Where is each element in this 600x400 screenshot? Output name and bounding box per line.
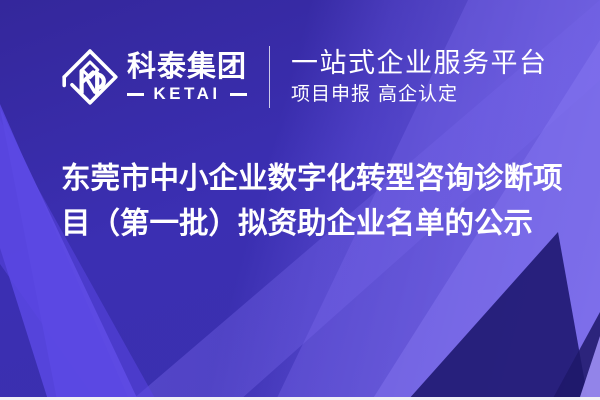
logo-english-row: KETAI [127,85,247,103]
header-tagline: 一站式企业服务平台 项目申报 高企认定 [291,48,548,107]
logo-company-name-en: KETAI [144,85,230,103]
ketai-diamond-kp-logo-icon [60,47,120,107]
header-divider [269,46,270,108]
banner-headline: 东莞市中小企业数字化转型咨询诊断项目（第一批）拟资助企业名单的公示 [61,156,571,246]
logo-wordmark: 科泰集团 KETAI [127,51,247,103]
logo-dash-right-icon [230,93,247,96]
logo-dash-left-icon [127,93,144,96]
tagline-secondary: 项目申报 高企认定 [291,81,548,107]
banner-header: 科泰集团 KETAI 一站式企业服务平台 项目申报 高企认定 [60,41,548,113]
logo-company-name-cn: 科泰集团 [127,51,247,81]
promo-banner: 科泰集团 KETAI 一站式企业服务平台 项目申报 高企认定 东莞市中小企业数字… [0,0,600,400]
tagline-primary: 一站式企业服务平台 [291,48,548,80]
